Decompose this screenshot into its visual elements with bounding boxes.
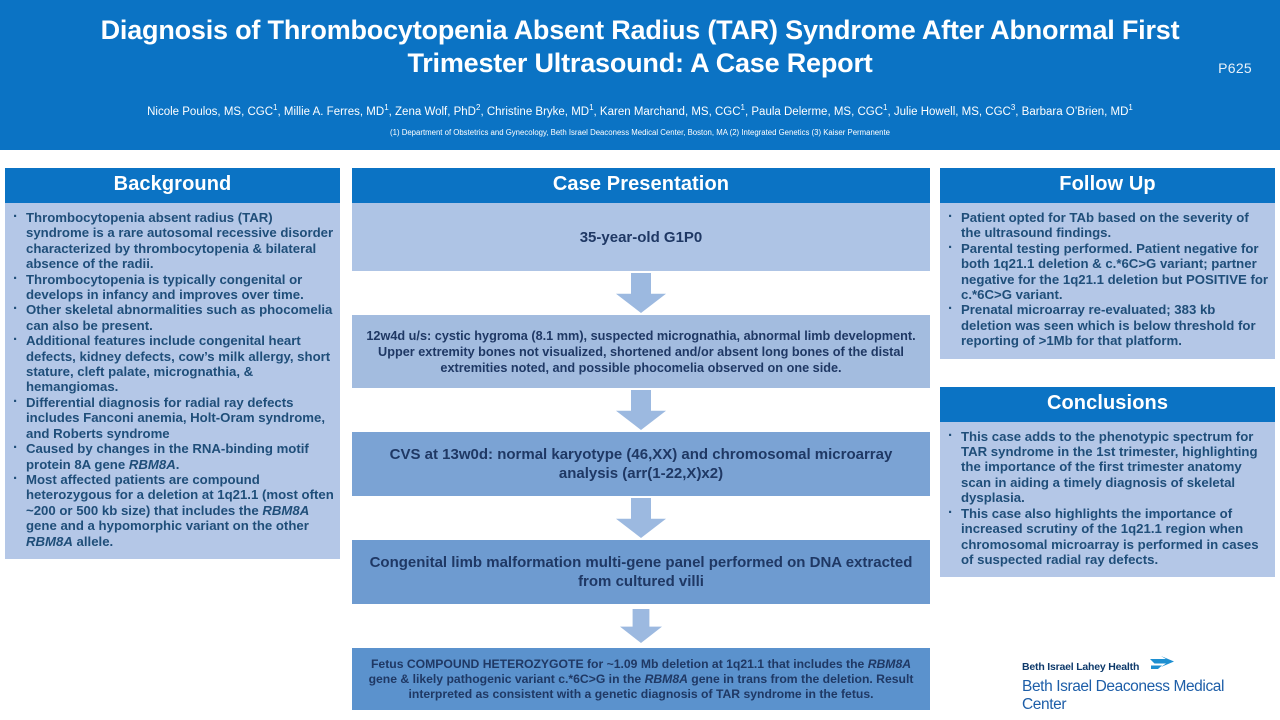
flow-step-3: CVS at 13w0d: normal karyotype (46,XX) a… (352, 432, 930, 496)
page-title: Diagnosis of Thrombocytopenia Absent Rad… (30, 14, 1250, 80)
list-item: This case also highlights the importance… (944, 506, 1269, 568)
flow-step-4: Congenital limb malformation multi-gene … (352, 540, 930, 604)
institution-logo: Beth Israel Lahey Health Beth Israel Dea… (1022, 656, 1272, 714)
conclusions-body: This case adds to the phenotypic spectru… (940, 422, 1275, 578)
follow-up-panel: Follow Up Patient opted for TAb based on… (940, 168, 1275, 359)
flow-step-2: 12w4d u/s: cystic hygroma (8.1 mm), susp… (352, 315, 930, 388)
poster-number-badge: P625 (1218, 60, 1252, 76)
case-presentation-heading: Case Presentation (352, 168, 930, 203)
background-panel: Background Thrombocytopenia absent radiu… (5, 168, 340, 559)
poster-canvas: Diagnosis of Thrombocytopenia Absent Rad… (0, 0, 1280, 720)
column-spacer (940, 359, 1275, 387)
follow-up-body: Patient opted for TAb based on the sever… (940, 203, 1275, 359)
list-item: Prenatal microarray re-evaluated; 383 kb… (944, 302, 1269, 348)
case-flow-chart: 35-year-old G1P0 12w4d u/s: cystic hygro… (352, 203, 930, 710)
poster-header: Diagnosis of Thrombocytopenia Absent Rad… (0, 0, 1280, 150)
list-item: This case adds to the phenotypic spectru… (944, 429, 1269, 506)
down-arrow-icon (616, 273, 666, 313)
logo-line-1: Beth Israel Lahey Health (1022, 661, 1139, 673)
author-list: Nicole Poulos, MS, CGC1, Millie A. Ferre… (30, 101, 1250, 119)
background-bullet-list: Thrombocytopenia absent radius (TAR) syn… (9, 210, 334, 549)
down-arrow-icon (620, 609, 662, 643)
swoosh-arrow-icon (1149, 656, 1175, 677)
follow-up-heading: Follow Up (940, 168, 1275, 203)
down-arrow-icon (616, 498, 666, 538)
list-item: Patient opted for TAb based on the sever… (944, 210, 1269, 241)
background-heading: Background (5, 168, 340, 203)
flow-step-1: 35-year-old G1P0 (352, 203, 930, 271)
conclusions-bullet-list: This case adds to the phenotypic spectru… (944, 429, 1269, 568)
follow-up-bullet-list: Patient opted for TAb based on the sever… (944, 210, 1269, 349)
down-arrow-icon (616, 390, 666, 430)
affiliation-list: (1) Department of Obstetrics and Gynecol… (30, 128, 1250, 138)
list-item: Differential diagnosis for radial ray de… (9, 395, 334, 441)
flow-arrow-2 (352, 388, 930, 432)
logo-line-2: Beth Israel Deaconess Medical Center (1022, 678, 1272, 714)
list-item: Additional features include congenital h… (9, 333, 334, 395)
flow-arrow-1 (352, 271, 930, 315)
flow-step-5: Fetus COMPOUND HETEROZYGOTE for ~1.09 Mb… (352, 648, 930, 710)
flow-arrow-4 (352, 604, 930, 648)
background-body: Thrombocytopenia absent radius (TAR) syn… (5, 203, 340, 559)
list-item: Most affected patients are compound hete… (9, 472, 334, 549)
flow-arrow-3 (352, 496, 930, 540)
list-item: Caused by changes in the RNA-binding mot… (9, 441, 334, 472)
conclusions-heading: Conclusions (940, 387, 1275, 422)
right-column: Follow Up Patient opted for TAb based on… (940, 168, 1275, 577)
list-item: Other skeletal abnormalities such as pho… (9, 302, 334, 333)
list-item: Thrombocytopenia is typically congenital… (9, 272, 334, 303)
case-presentation-panel: Case Presentation 35-year-old G1P0 12w4d… (352, 168, 930, 710)
conclusions-panel: Conclusions This case adds to the phenot… (940, 387, 1275, 578)
list-item: Thrombocytopenia absent radius (TAR) syn… (9, 210, 334, 272)
list-item: Parental testing performed. Patient nega… (944, 241, 1269, 303)
